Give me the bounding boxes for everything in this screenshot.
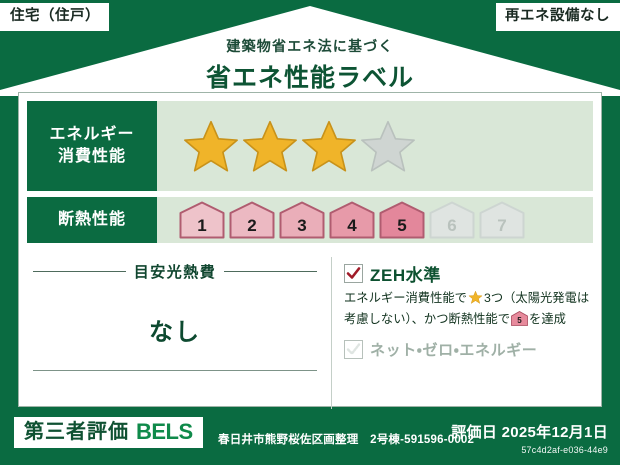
- property-address: 春日井市熊野桜佐区画整理 2号棟-591596-0002: [218, 431, 474, 447]
- insulation-level-number: 3: [279, 216, 325, 236]
- energy-cost-section: 目安光熱費 なし: [19, 257, 331, 409]
- zeh-row: ZEH水準: [344, 261, 591, 286]
- energy-cost-heading: 目安光熱費: [33, 261, 317, 282]
- footer: 第三者評価 BELS 春日井市熊野桜佐区画整理 2号棟-591596-0002 …: [0, 407, 620, 465]
- title-subtitle: 建築物省エネ法に基づく: [0, 36, 620, 56]
- zeh-section: ZEH水準 エネルギー消費性能で3つ（太陽光発電は考慮しない）、かつ断熱性能で5…: [331, 257, 601, 409]
- lower-section: 目安光熱費 なし ZEH水準 エネルギー消費性能で3つ（太陽光発電は考慮: [19, 257, 601, 409]
- insulation-level-4: 4: [329, 201, 375, 239]
- zeh-desc-part1: エネルギー消費性能で: [344, 291, 467, 305]
- cost-rule-bottom: [33, 370, 317, 371]
- insulation-level-number: 1: [179, 216, 225, 236]
- main-panel: エネルギー 消費性能 断熱性能 1234567 目安光熱費: [18, 92, 602, 407]
- zeh-description: エネルギー消費性能で3つ（太陽光発電は考慮しない）、かつ断熱性能で5を達成: [344, 290, 591, 332]
- insulation-level-1: 1: [179, 201, 225, 239]
- check-icon-disabled: [346, 342, 361, 357]
- insulation-level-number: 7: [479, 216, 525, 236]
- energy-performance-value: [157, 101, 593, 191]
- svg-text:5: 5: [517, 316, 522, 325]
- insulation-level-5: 5: [379, 201, 425, 239]
- row-insulation-performance: 断熱性能 1234567: [27, 197, 593, 243]
- netzero-checkbox[interactable]: [344, 340, 363, 359]
- zeh-desc-part3: を達成: [529, 312, 566, 326]
- cost-rule-left: [33, 271, 126, 272]
- energy-cost-value: なし: [33, 312, 317, 347]
- insulation-level-number: 4: [329, 216, 375, 236]
- label-title: 建築物省エネ法に基づく 省エネ性能ラベル: [0, 36, 620, 94]
- evaluation-date-value: 2025年12月1日: [502, 424, 608, 441]
- tag-renewable-equipment: 再エネ設備なし: [496, 3, 620, 31]
- certificate-id: 57c4d2af-e036-44e9: [451, 445, 608, 455]
- title-main: 省エネ性能ラベル: [0, 58, 620, 94]
- energy-performance-label: エネルギー 消費性能: [27, 101, 157, 191]
- bels-logo: 第三者評価 BELS: [14, 417, 203, 448]
- insulation-level-2: 2: [229, 201, 275, 239]
- insulation-level-number: 5: [379, 216, 425, 236]
- tag-building-type: 住宅（住戸）: [0, 3, 109, 31]
- netzero-row: ネット・ゼロ・エネルギー: [344, 339, 591, 360]
- star-rating: [157, 118, 416, 174]
- insulation-level-scale: 1234567: [157, 201, 525, 239]
- insulation-level-number: 2: [229, 216, 275, 236]
- bels-jp-text: 第三者評価: [24, 422, 129, 442]
- check-icon: [346, 266, 361, 281]
- insulation-performance-value: 1234567: [157, 197, 593, 243]
- energy-cost-title: 目安光熱費: [134, 261, 217, 282]
- insulation-level-3: 3: [279, 201, 325, 239]
- cost-rule-right: [224, 271, 317, 272]
- house-level-icon: 5: [511, 311, 528, 332]
- energy-label-line2: 消費性能: [58, 148, 126, 165]
- evaluation-date-block: 評価日 2025年12月1日 57c4d2af-e036-44e9: [451, 421, 608, 455]
- insulation-level-7: 7: [479, 201, 525, 239]
- zeh-checkbox[interactable]: [344, 264, 363, 283]
- star-icon-filled: [301, 118, 357, 174]
- star-icon-filled: [183, 118, 239, 174]
- bels-label: 住宅（住戸） 再エネ設備なし 建築物省エネ法に基づく 省エネ性能ラベル エネルギ…: [0, 0, 620, 465]
- energy-label-line1: エネルギー: [49, 126, 134, 143]
- row-energy-performance: エネルギー 消費性能: [27, 101, 593, 191]
- evaluation-date: 評価日 2025年12月1日: [451, 421, 608, 442]
- star-icon-empty: [360, 118, 416, 174]
- star-icon-filled: [242, 118, 298, 174]
- insulation-level-6: 6: [429, 201, 475, 239]
- netzero-title: ネット・ゼロ・エネルギー: [370, 339, 537, 360]
- insulation-level-number: 6: [429, 216, 475, 236]
- star-icon: [468, 290, 483, 311]
- zeh-title: ZEH水準: [370, 261, 441, 286]
- bels-en-text: BELS: [136, 421, 193, 443]
- evaluation-date-label: 評価日: [451, 424, 497, 441]
- insulation-performance-label: 断熱性能: [27, 197, 157, 243]
